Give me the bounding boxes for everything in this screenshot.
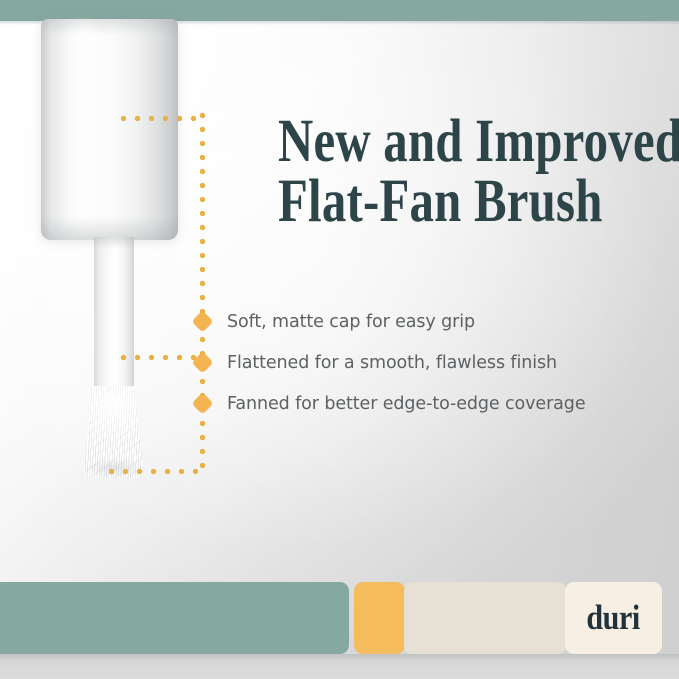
cap-top-shading: [41, 19, 178, 35]
brush-stem: [94, 237, 134, 389]
diamond-bullet-icon: [192, 352, 213, 373]
feature-text: Flattened for a smooth, flawless finish: [227, 353, 557, 373]
cream-logo-segment: duri: [565, 582, 662, 654]
diamond-bullet-icon: [192, 311, 213, 332]
feature-text: Fanned for better edge-to-edge coverage: [227, 394, 585, 414]
cap-highlight: [63, 25, 103, 234]
flat-fan-bristles: [70, 386, 158, 478]
beige-segment: [404, 582, 566, 654]
teal-segment: [0, 582, 349, 654]
nail-polish-cap: [41, 19, 178, 240]
bottom-bar-shadow: [0, 654, 679, 661]
product-ad-canvas: New and Improved Flat-Fan Brush Soft, ma…: [0, 0, 679, 679]
feature-item: Fanned for better edge-to-edge coverage: [192, 383, 662, 424]
top-teal-band: [0, 0, 679, 21]
amber-segment: [354, 582, 405, 654]
feature-item: Soft, matte cap for easy grip: [192, 301, 662, 342]
headline-line-1: New and Improved: [278, 112, 584, 172]
diamond-bullet-icon: [192, 393, 213, 414]
feature-item: Flattened for a smooth, flawless finish: [192, 342, 662, 383]
stem-top-shading: [94, 237, 134, 249]
headline: New and Improved Flat-Fan Brush: [278, 112, 584, 233]
feature-text: Soft, matte cap for easy grip: [227, 312, 475, 332]
headline-line-2: Flat-Fan Brush: [278, 172, 584, 232]
bottom-color-bar: duri: [0, 582, 679, 654]
feature-list: Soft, matte cap for easy grip Flattened …: [192, 301, 662, 424]
dotted-line-to-cap: [120, 115, 204, 122]
dotted-line-to-bristles: [108, 468, 204, 475]
brand-logo: duri: [587, 600, 640, 635]
